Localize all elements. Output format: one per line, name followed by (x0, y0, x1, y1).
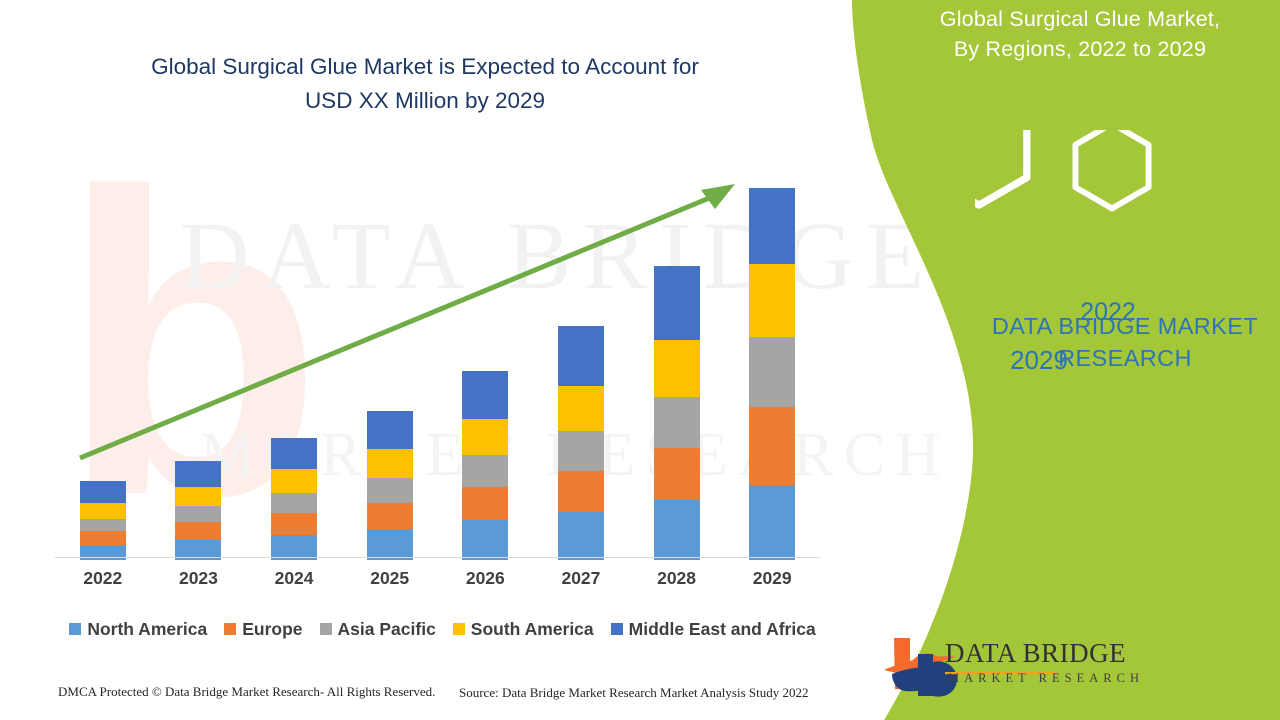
infographic-slide: b DATA BRIDGE MARKET RESEARCH Global Sur… (0, 0, 1280, 720)
bar-segment (558, 471, 604, 512)
bar-segment (462, 520, 508, 560)
bar-2022 (80, 481, 126, 560)
bar-segment (654, 448, 700, 500)
legend-label: North America (87, 619, 207, 640)
x-axis-line (55, 557, 820, 558)
logo-tagline: MARKET RESEARCH (948, 671, 1144, 686)
bar-segment (80, 481, 126, 503)
bar-segment (271, 438, 317, 469)
bar-segment (462, 455, 508, 487)
bar-segment (175, 461, 221, 487)
panel-title: Global Surgical Glue Market, By Regions,… (905, 4, 1255, 64)
bar-2028 (654, 266, 700, 560)
bar-segment (462, 487, 508, 520)
bar-segment (654, 340, 700, 397)
panel-brand-line-1: DATA BRIDGE MARKET (960, 310, 1280, 342)
bar-segment (654, 500, 700, 560)
bar-segment (271, 493, 317, 513)
bar-segment (367, 478, 413, 503)
bar-segment (367, 411, 413, 449)
stacked-bar-plot (55, 160, 820, 560)
bar-segment (271, 469, 317, 493)
bar-segment (367, 529, 413, 560)
hexagon-2029-outline (975, 130, 1027, 205)
panel-title-line-2: By Regions, 2022 to 2029 (905, 34, 1255, 64)
legend-swatch (611, 623, 623, 635)
chart-title: Global Surgical Glue Market is Expected … (55, 50, 795, 118)
x-label-2025: 2025 (342, 568, 438, 589)
chart-legend: North AmericaEuropeAsia PacificSouth Ame… (55, 616, 830, 642)
bar-segment (80, 531, 126, 545)
bar-segment (462, 419, 508, 455)
legend-label: Middle East and Africa (629, 619, 816, 640)
bar-segment (80, 503, 126, 519)
x-label-2024: 2024 (246, 568, 342, 589)
hexagon-badges: 2022 2029 (975, 130, 1175, 295)
panel-title-line-1: Global Surgical Glue Market, (905, 4, 1255, 34)
bar-2026 (462, 371, 508, 560)
bar-segment (654, 266, 700, 340)
bar-2029 (749, 188, 795, 560)
x-label-2028: 2028 (629, 568, 725, 589)
x-label-2022: 2022 (55, 568, 151, 589)
bar-segment (654, 397, 700, 448)
bar-2024 (271, 438, 317, 560)
x-axis-labels: 20222023202420252026202720282029 (55, 568, 820, 596)
legend-swatch (320, 623, 332, 635)
x-label-2026: 2026 (437, 568, 533, 589)
legend-item-south-america[interactable]: South America (453, 619, 594, 640)
hexagon-2022-outline (1075, 130, 1148, 208)
bar-segment (175, 506, 221, 522)
bar-2027 (558, 326, 604, 560)
panel-brand-line-2: RESEARCH (960, 342, 1280, 374)
legend-item-north-america[interactable]: North America (69, 619, 207, 640)
bar-segment (558, 326, 604, 386)
legend-item-asia-pacific[interactable]: Asia Pacific (320, 619, 436, 640)
bar-segment (175, 522, 221, 540)
legend-item-europe[interactable]: Europe (224, 619, 302, 640)
footer-copyright: DMCA Protected © Data Bridge Market Rese… (58, 684, 435, 700)
legend-label: Europe (242, 619, 302, 640)
legend-label: Asia Pacific (338, 619, 436, 640)
bar-segment (749, 188, 795, 264)
bar-segment (749, 337, 795, 407)
bar-segment (271, 513, 317, 535)
x-label-2027: 2027 (533, 568, 629, 589)
bar-segment (558, 512, 604, 560)
legend-label: South America (471, 619, 594, 640)
bar-2025 (367, 411, 413, 560)
x-label-2029: 2029 (724, 568, 820, 589)
bar-2023 (175, 461, 221, 560)
footer-source: Source: Data Bridge Market Research Mark… (459, 685, 808, 701)
bar-segment (749, 485, 795, 560)
chart-title-line-2: USD XX Million by 2029 (55, 84, 795, 118)
bar-segment (80, 519, 126, 531)
growth-trend-arrow (55, 160, 820, 560)
x-label-2023: 2023 (150, 568, 246, 589)
bar-segment (558, 386, 604, 431)
bar-segment (558, 431, 604, 471)
bar-segment (367, 503, 413, 529)
legend-swatch (224, 623, 236, 635)
bar-segment (367, 449, 413, 478)
bar-segment (462, 371, 508, 419)
bar-segment (175, 487, 221, 506)
logo-wordmark: DATA BRIDGE (945, 638, 1126, 669)
bar-segment (749, 264, 795, 337)
legend-swatch (69, 623, 81, 635)
legend-swatch (453, 623, 465, 635)
bar-segment (749, 407, 795, 485)
panel-brand-text: DATA BRIDGE MARKET RESEARCH (960, 310, 1280, 374)
legend-item-middle-east-and-africa[interactable]: Middle East and Africa (611, 619, 816, 640)
chart-title-line-1: Global Surgical Glue Market is Expected … (55, 50, 795, 84)
